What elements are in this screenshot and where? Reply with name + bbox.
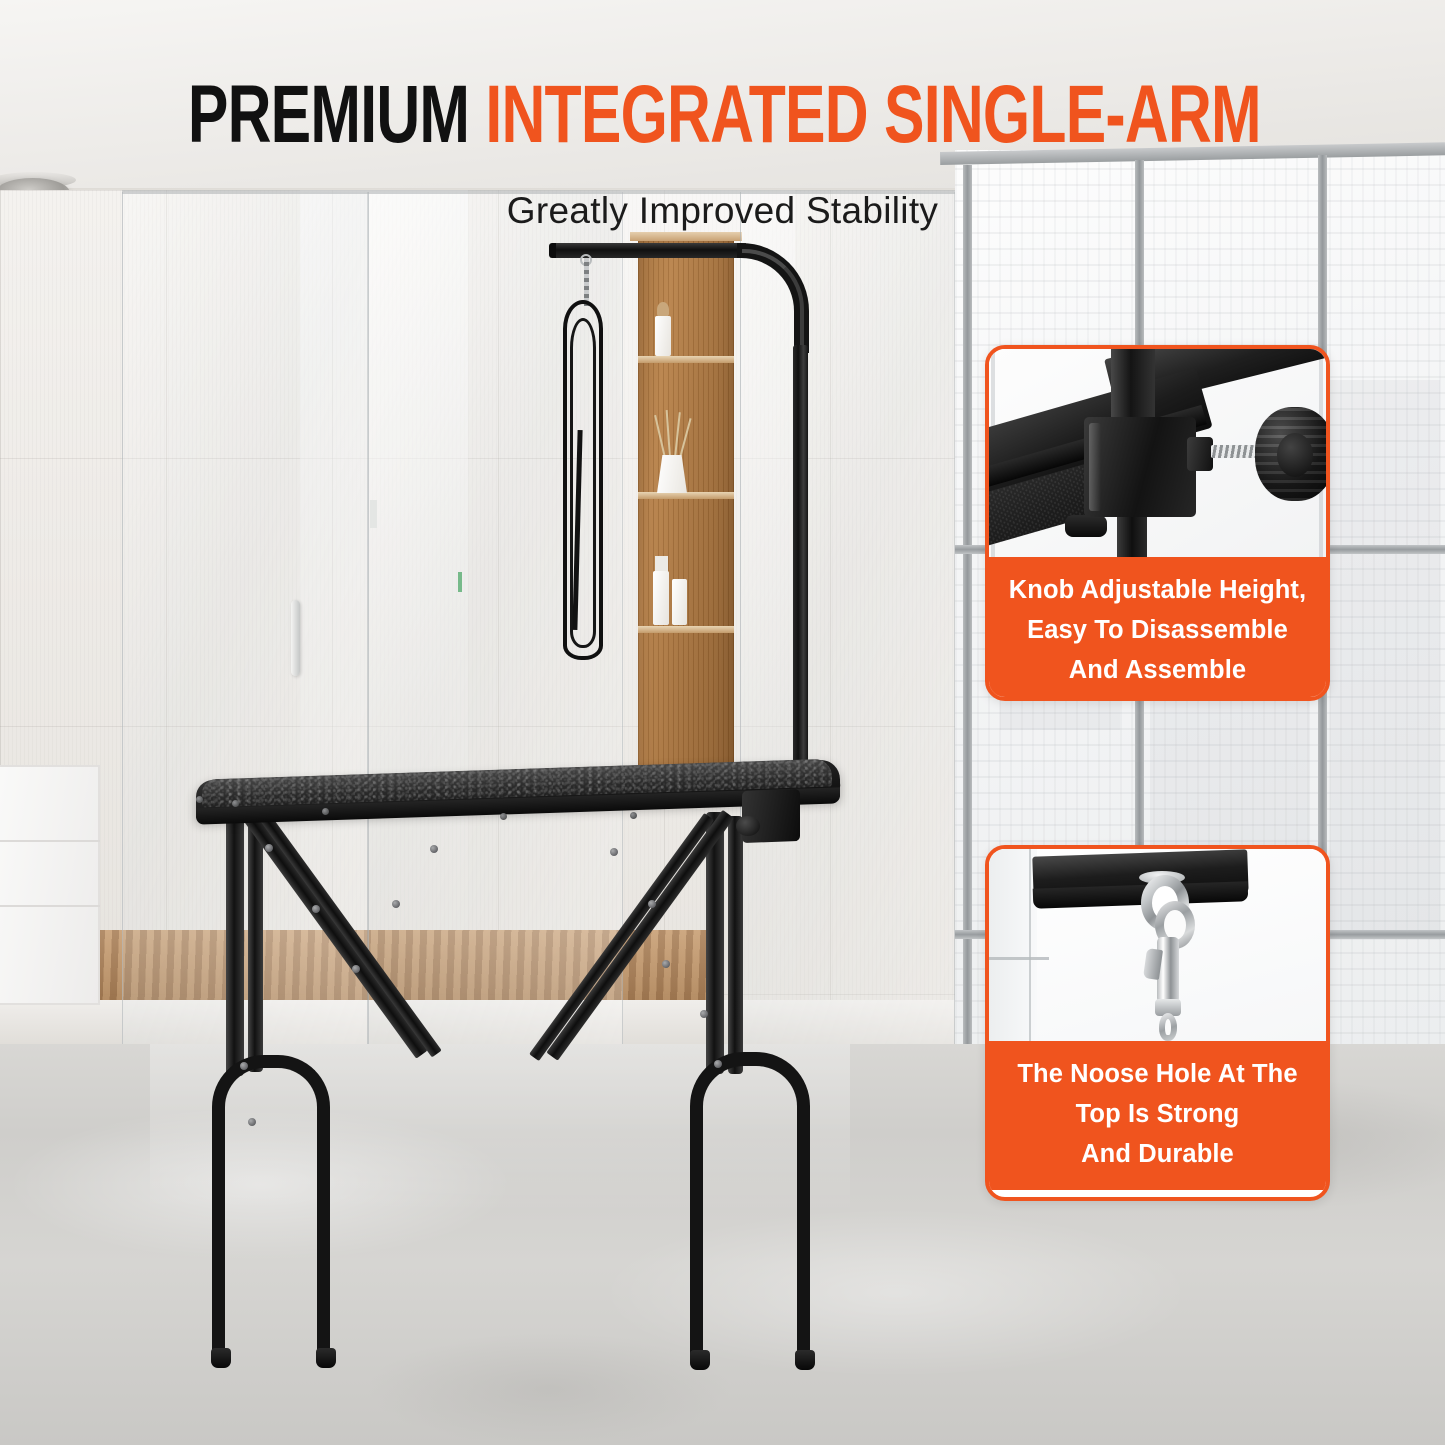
caption-line: And Assemble [999,650,1316,690]
brace-bolt [610,848,618,856]
table-leg-upper [728,816,743,1074]
arm-curve-highlight [742,249,804,349]
brace-bolt [240,1062,248,1070]
arm-bar-end-cap [549,243,556,258]
clamp-photo-nut [1187,437,1213,471]
brace-bolt [648,900,656,908]
folding-brace [258,811,442,1058]
table-leg-upper [226,806,244,1076]
callout-caption-2: The Noose Hole At The Top Is Strong And … [989,1041,1326,1190]
clamp-photo-foot-pad [1065,515,1107,537]
knob-hub [1277,433,1313,477]
clamp-photo-collar-highlight [1089,423,1101,511]
brace-bolt [430,845,438,853]
page-subtitle: Greatly Improved Stability [0,190,1445,232]
brace-bolt [312,905,320,913]
callout-card-noose-hole-strength: The Noose Hole At The Top Is Strong And … [985,845,1330,1201]
caption-line: And Durable [999,1134,1316,1174]
rail-screw [500,813,507,820]
caption-line: Easy To Disassemble [999,610,1316,650]
callout-card-knob-adjustable-height: Knob Adjustable Height, Easy To Disassem… [985,345,1330,701]
callout-caption-1: Knob Adjustable Height, Easy To Disassem… [989,557,1326,701]
leg-foot-cap [690,1350,710,1370]
noose-chain [584,258,589,306]
snap-hook-shank [1157,937,1179,1003]
table-leg-foot-arch [690,1052,810,1362]
photo-wall-edge [1029,849,1031,1041]
product-marketing-image: PREMIUM INTEGRATED SINGLE-ARM Greatly Im… [0,0,1445,1445]
callout-photo-knob-clamp [989,349,1326,557]
brace-bolt [700,1010,708,1018]
table-leg-foot-arch [212,1055,330,1360]
rail-screw [232,800,239,807]
brace-bolt [265,844,273,852]
leg-foot-cap [795,1350,815,1370]
callout-photo-snap-hook [989,849,1326,1041]
headline-part-black: PREMIUM [188,69,469,160]
brace-bolt [714,1060,722,1068]
grooming-arm-vertical-post [793,345,808,790]
page-title: PREMIUM INTEGRATED SINGLE-ARM [188,74,1257,156]
brace-bolt [248,1118,256,1126]
photo-floor-line [989,957,1049,960]
brace-bolt [392,900,400,908]
caption-line: The Noose Hole At The [999,1054,1316,1094]
rail-screw [630,812,637,819]
folding-brace [529,813,714,1061]
headline-part-orange: INTEGRATED SINGLE-ARM [485,69,1261,160]
caption-line: Top Is Strong [999,1094,1316,1134]
caption-line: Knob Adjustable Height, [999,570,1316,610]
arm-clamp-knob [736,816,760,836]
brace-bolt [352,965,360,973]
brace-bolt [662,960,670,968]
leg-foot-cap [316,1348,336,1368]
leg-foot-cap [211,1348,231,1368]
rail-screw [196,796,203,803]
snap-hook-lower-ring [1159,1013,1177,1041]
rail-screw [322,808,329,815]
